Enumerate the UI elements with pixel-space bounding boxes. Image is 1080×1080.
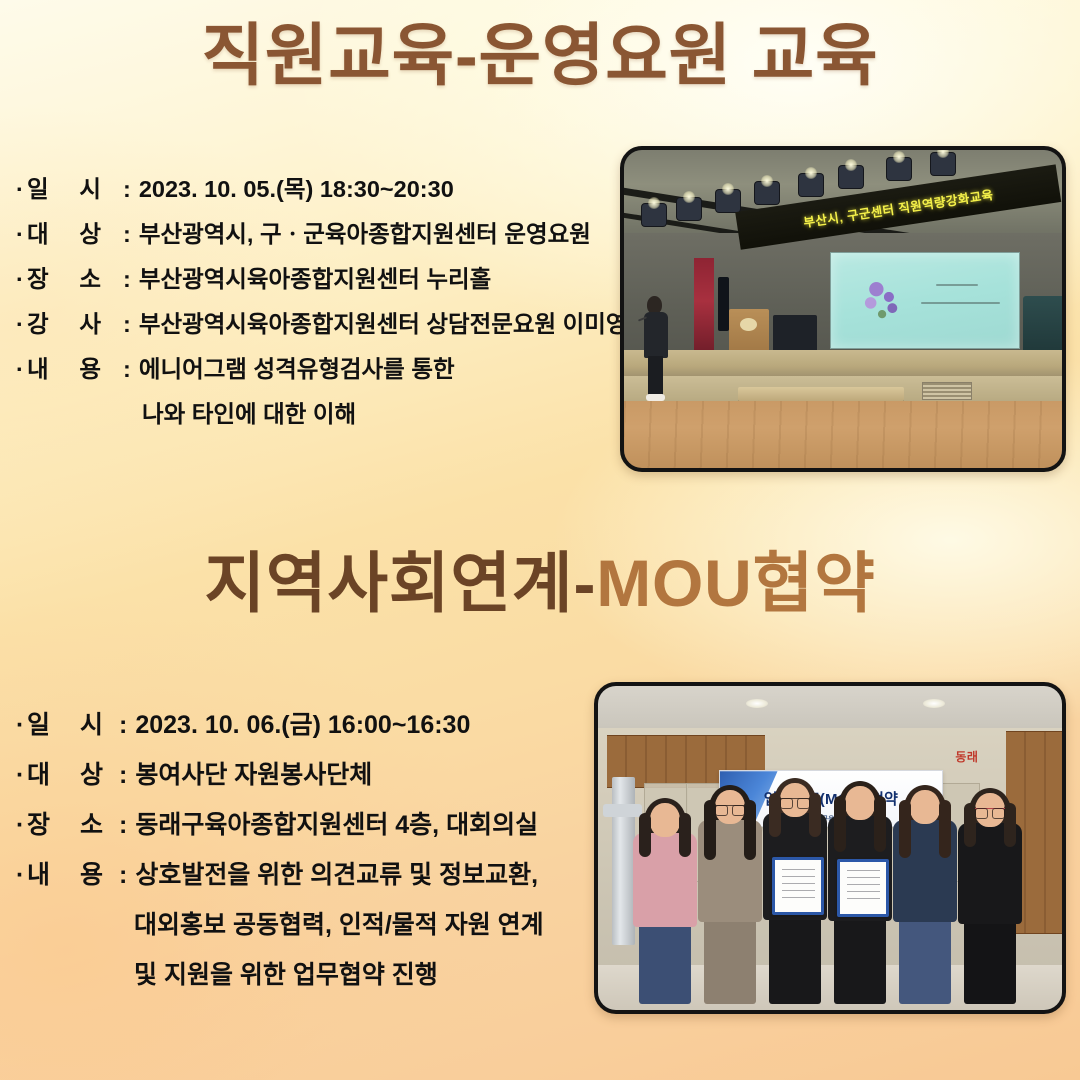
row-label: 일 시 <box>27 170 123 204</box>
info-row: · 장 소 : 동래구육아종합지원센터 4층, 대회의실 <box>16 805 544 841</box>
row-colon: : <box>123 266 139 293</box>
section-title-part-light: MOU협약 <box>596 546 875 620</box>
person-hair-side <box>1004 803 1016 847</box>
row-bullet: · <box>16 811 27 840</box>
row-label-second-char: 용 <box>79 350 101 384</box>
row-colon: : <box>119 811 135 840</box>
slide-text-line <box>936 284 977 286</box>
photo-content: 부산시, 구군센터 직원역량강화교육 <box>624 150 1062 468</box>
piano <box>1023 296 1062 356</box>
signed-agreement-document <box>772 857 824 915</box>
person-figure <box>635 803 695 1004</box>
row-bullet: · <box>16 761 27 790</box>
equipment-pole <box>612 777 635 945</box>
row-bullet: · <box>16 861 27 890</box>
dongnae-logo: 동래 <box>955 748 978 765</box>
row-value: 동래구육아종합지원센터 4층, 대회의실 <box>135 805 543 841</box>
lecturer-figure <box>644 296 668 401</box>
row-label-second-char: 소 <box>79 260 101 294</box>
row-label-second-char: 시 <box>80 705 103 741</box>
row-value: 부산광역시, 구ㆍ군육아종합지원센터 운영요원 <box>139 215 628 249</box>
row-bullet: · <box>16 711 27 740</box>
person-legs <box>769 915 821 1003</box>
person-glasses-icon <box>715 805 745 815</box>
row-colon: : <box>119 761 135 790</box>
stage-light-icon <box>839 166 863 188</box>
person-figure <box>765 783 825 1003</box>
info-row: · 일 시 : 2023. 10. 06.(금) 16:00~16:30 <box>16 705 544 741</box>
row-value: 에니어그램 성격유형검사를 통한 <box>139 350 628 384</box>
mou-signing-group-photo: 동래 업무제휴(MOU) 협약 동래구육아종합지원센터 <box>594 682 1066 1014</box>
person-hair-side <box>899 800 911 858</box>
stage-light-icon <box>931 153 955 175</box>
person-legs <box>964 919 1016 1003</box>
person-glasses-icon <box>975 808 1005 818</box>
stage-light-icon <box>716 190 740 212</box>
stage-light-icon <box>677 198 701 220</box>
photo-content: 동래 업무제휴(MOU) 협약 동래구육아종합지원센터 <box>598 686 1062 1010</box>
person-hair-side <box>874 796 886 852</box>
info-row: · 내 용 : 에니어그램 성격유형검사를 통한 <box>16 350 628 384</box>
row-bullet: · <box>16 311 27 338</box>
row-label-second-char: 사 <box>79 305 101 339</box>
row-label-second-char: 소 <box>80 805 103 841</box>
row-label-second-char: 상 <box>79 215 101 249</box>
person-glasses-icon <box>780 798 810 808</box>
lecturer-shoes <box>646 394 665 401</box>
wall-monitor <box>718 277 729 331</box>
person-hair-side <box>639 813 651 857</box>
row-label-first-char: 장 <box>27 260 49 294</box>
row-label-first-char: 일 <box>27 705 50 741</box>
row-label: 장 소 <box>27 805 119 841</box>
row-label-first-char: 일 <box>27 170 49 204</box>
row-label: 일 시 <box>27 705 119 741</box>
projection-screen <box>830 252 1020 349</box>
person-head <box>650 803 680 837</box>
stage-curtain <box>694 258 714 353</box>
person-hair-side <box>939 800 951 858</box>
row-colon: : <box>119 711 135 740</box>
poster-canvas: 직원교육-운영요원 교육 · 일 시 : 2023. 10. 05.(목) 18… <box>0 0 1080 1080</box>
person-figure <box>895 790 955 1004</box>
info-row: · 내 용 : 상호발전을 위한 의견교류 및 정보교환, <box>16 855 544 891</box>
row-value: 부산광역시육아종합지원센터 누리홀 <box>139 260 628 294</box>
row-colon: : <box>123 221 139 248</box>
lecturer-legs <box>648 356 663 395</box>
row-bullet: · <box>16 356 27 383</box>
row-value: 봉여사단 자원봉사단체 <box>135 755 543 791</box>
info-row-continuation: 및 지원을 위한 업무협약 진행 <box>16 955 544 991</box>
info-row: · 장 소 : 부산광역시육아종합지원센터 누리홀 <box>16 260 628 294</box>
row-label-second-char: 시 <box>79 170 101 204</box>
info-row-continuation: 나와 타인에 대한 이해 <box>16 395 628 429</box>
section-title-staff-training: 직원교육-운영요원 교육 <box>0 22 1080 90</box>
signed-agreement-document <box>837 859 889 917</box>
row-label-first-char: 대 <box>27 755 50 791</box>
info-row: · 대 상 : 부산광역시, 구ㆍ군육아종합지원센터 운영요원 <box>16 215 628 249</box>
section-title-community-mou: 지역사회연계-MOU협약 <box>0 548 1080 619</box>
info-list-community-mou: · 일 시 : 2023. 10. 06.(금) 16:00~16:30 · 대… <box>16 705 544 1005</box>
info-list-staff-training: · 일 시 : 2023. 10. 05.(목) 18:30~20:30 · 대… <box>16 170 628 440</box>
lecturer-body <box>644 312 668 358</box>
auditorium-lecture-photo: 부산시, 구군센터 직원역량강화교육 <box>620 146 1066 472</box>
person-figure <box>700 790 760 1004</box>
row-label-first-char: 내 <box>27 855 50 891</box>
row-label: 내 용 <box>27 350 123 384</box>
person-legs <box>899 918 951 1004</box>
ceiling <box>598 686 1062 731</box>
row-bullet: · <box>16 221 27 248</box>
row-colon: : <box>123 356 139 383</box>
dongnae-logo-mark: 동래 <box>955 750 978 764</box>
person-legs <box>639 923 691 1003</box>
row-value: 2023. 10. 05.(목) 18:30~20:30 <box>139 170 628 204</box>
row-colon: : <box>123 311 139 338</box>
person-legs <box>704 918 756 1004</box>
info-row-continuation: 대외홍보 공동협력, 인적/물적 자원 연계 <box>16 905 544 941</box>
row-bullet: · <box>16 266 27 293</box>
row-colon: : <box>119 861 135 890</box>
person-hair-side <box>679 813 691 857</box>
person-figure <box>830 786 890 1003</box>
person-legs <box>834 917 886 1004</box>
row-label-first-char: 대 <box>27 215 49 249</box>
row-bullet: · <box>16 176 27 203</box>
stage-light-icon <box>642 204 666 226</box>
stage-light-icon <box>799 174 823 196</box>
row-label: 대 상 <box>27 215 123 249</box>
row-label: 내 용 <box>27 855 119 891</box>
row-colon: : <box>123 176 139 203</box>
row-label-first-char: 강 <box>27 305 49 339</box>
person-hair-side <box>809 793 821 837</box>
person-head <box>845 786 875 820</box>
stage-light-icon <box>755 182 779 204</box>
person-figure <box>960 793 1020 1004</box>
person-head <box>910 790 940 824</box>
info-row: · 대 상 : 봉여사단 자원봉사단체 <box>16 755 544 791</box>
row-label: 강 사 <box>27 305 123 339</box>
row-label-second-char: 상 <box>80 755 103 791</box>
row-label-first-char: 내 <box>27 350 49 384</box>
stage-light-icon <box>887 158 911 180</box>
row-label: 장 소 <box>27 260 123 294</box>
wood-floor <box>624 401 1062 468</box>
info-row: · 일 시 : 2023. 10. 05.(목) 18:30~20:30 <box>16 170 628 204</box>
slide-text-line <box>921 302 1000 304</box>
row-label-first-char: 장 <box>27 805 50 841</box>
floor-vent <box>922 382 972 400</box>
slide-flower-graphic <box>857 278 913 322</box>
row-value: 부산광역시육아종합지원센터 상담전문요원 이미영 <box>139 305 628 339</box>
row-value: 상호발전을 위한 의견교류 및 정보교환, <box>135 855 543 891</box>
person-hair-side <box>834 796 846 852</box>
ceiling-light-icon <box>923 699 945 708</box>
row-value: 2023. 10. 06.(금) 16:00~16:30 <box>135 705 543 741</box>
person-hair-side <box>744 800 756 860</box>
info-row: · 강 사 : 부산광역시육아종합지원센터 상담전문요원 이미영 <box>16 305 628 339</box>
section-title-part-dark: 지역사회연계- <box>204 546 596 620</box>
row-label-second-char: 용 <box>80 855 103 891</box>
row-label: 대 상 <box>27 755 119 791</box>
wooden-bench <box>738 387 904 401</box>
